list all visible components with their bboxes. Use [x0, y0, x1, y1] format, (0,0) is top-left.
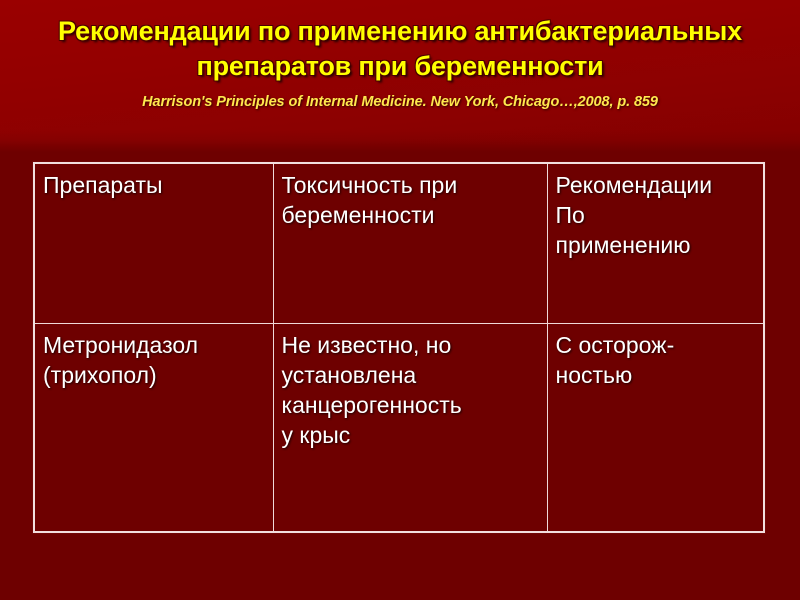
- table-row: Метронидазол (трихопол) Не известно, но …: [34, 324, 764, 532]
- cell-line: канцерогенность: [282, 391, 539, 421]
- header-line: Токсичность при: [282, 171, 539, 201]
- cell-line: (трихопол): [43, 361, 265, 391]
- header-line: применению: [556, 231, 756, 261]
- cell-line: С осторож-: [556, 331, 756, 361]
- cell-line: ностью: [556, 361, 756, 391]
- cell-drug-name: Метронидазол (трихопол): [34, 324, 273, 532]
- cell-line: Метронидазол: [43, 331, 265, 361]
- cell-recommendation: С осторож- ностью: [547, 324, 764, 532]
- title-block: Рекомендации по применению антибактериал…: [0, 14, 800, 110]
- slide-source-citation: Harrison's Principles of Internal Medici…: [0, 94, 800, 110]
- slide-canvas: Рекомендации по применению антибактериал…: [0, 0, 800, 600]
- cell-toxicity: Не известно, но установлена канцерогенно…: [273, 324, 547, 532]
- table-header-row: Препараты Токсичность при беременности Р…: [34, 163, 764, 324]
- cell-line: у крыс: [282, 421, 539, 451]
- header-line: Препараты: [43, 171, 265, 201]
- header-line: беременности: [282, 201, 539, 231]
- drug-recommendations-table: Препараты Токсичность при беременности Р…: [33, 162, 765, 533]
- cell-line: Не известно, но: [282, 331, 539, 361]
- page-title: Рекомендации по применению антибактериал…: [0, 14, 800, 83]
- cell-line: установлена: [282, 361, 539, 391]
- column-header-recommendations: Рекомендации По применению: [547, 163, 764, 324]
- header-line: Рекомендации: [556, 171, 756, 201]
- header-line: По: [556, 201, 756, 231]
- column-header-toxicity: Токсичность при беременности: [273, 163, 547, 324]
- column-header-drugs: Препараты: [34, 163, 273, 324]
